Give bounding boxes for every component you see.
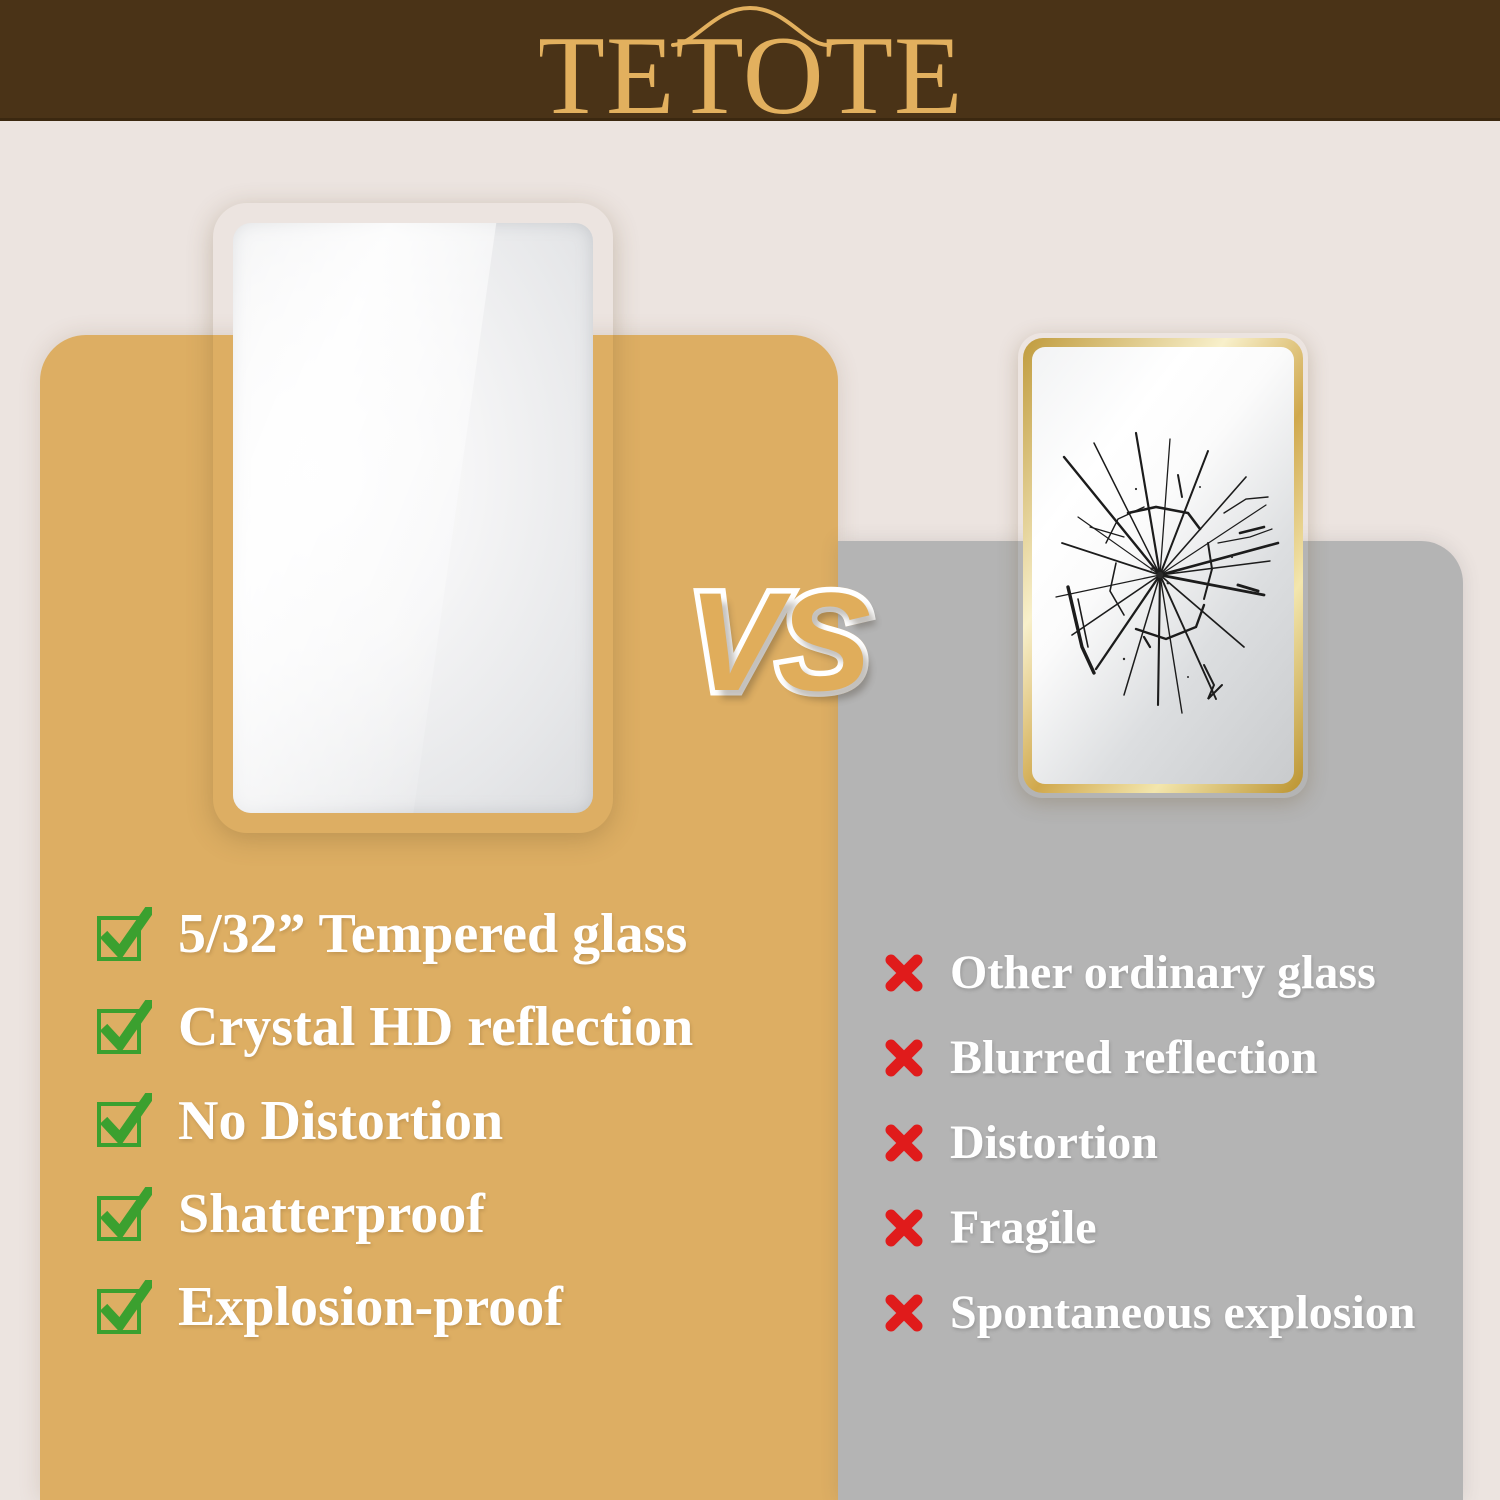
pros-item-label: Crystal HD reflection xyxy=(178,998,693,1057)
cons-item-label: Spontaneous explosion xyxy=(950,1288,1416,1339)
pros-item-label: 5/32” Tempered glass xyxy=(178,905,687,964)
list-item: Shatterproof xyxy=(96,1185,816,1244)
versus-badge: VS xyxy=(688,572,867,712)
cross-mark-icon xyxy=(884,1038,924,1078)
list-item: No Distortion xyxy=(96,1092,816,1151)
check-box-icon xyxy=(96,1093,152,1149)
gold-mirror-frame-small xyxy=(1018,333,1308,798)
check-box-icon xyxy=(96,1187,152,1243)
gold-mirror-frame xyxy=(213,203,613,833)
ordinary-glass-mirror xyxy=(1018,333,1308,798)
pros-item-label: Shatterproof xyxy=(178,1185,485,1244)
cross-mark-icon xyxy=(884,953,924,993)
cons-item-label: Other ordinary glass xyxy=(950,948,1376,999)
cons-item-label: Fragile xyxy=(950,1203,1097,1254)
cons-item-label: Blurred reflection xyxy=(950,1033,1317,1084)
check-box-icon xyxy=(96,907,152,963)
list-item: Spontaneous explosion xyxy=(884,1288,1464,1339)
check-box-icon xyxy=(96,1280,152,1336)
pros-item-label: No Distortion xyxy=(178,1092,503,1151)
cons-item-label: Distortion xyxy=(950,1118,1158,1169)
list-item: Blurred reflection xyxy=(884,1033,1464,1084)
cons-feature-list: Other ordinary glass Blurred reflection … xyxy=(884,948,1464,1372)
versus-label: VS xyxy=(688,563,867,720)
intact-mirror-glass xyxy=(233,223,593,813)
pros-item-label: Explosion-proof xyxy=(178,1278,563,1337)
shattered-mirror-glass xyxy=(1032,347,1294,784)
list-item: 5/32” Tempered glass xyxy=(96,905,816,964)
list-item: Fragile xyxy=(884,1203,1464,1254)
list-item: Other ordinary glass xyxy=(884,948,1464,999)
cross-mark-icon xyxy=(884,1208,924,1248)
glass-crack-pattern-icon xyxy=(1032,347,1294,784)
product-comparison-infographic: TETOTE xyxy=(0,0,1500,1500)
cross-mark-icon xyxy=(884,1123,924,1163)
tetote-logo-icon: TETOTE xyxy=(540,0,960,121)
list-item: Explosion-proof xyxy=(96,1278,816,1337)
list-item: Crystal HD reflection xyxy=(96,998,816,1057)
check-box-icon xyxy=(96,1000,152,1056)
brand-wordmark: TETOTE xyxy=(540,14,960,121)
pros-feature-list: 5/32” Tempered glass Crystal HD reflecti… xyxy=(96,905,816,1372)
tempered-glass-mirror xyxy=(213,203,613,833)
list-item: Distortion xyxy=(884,1118,1464,1169)
cross-mark-icon xyxy=(884,1293,924,1333)
brand-logo: TETOTE xyxy=(0,0,1500,121)
